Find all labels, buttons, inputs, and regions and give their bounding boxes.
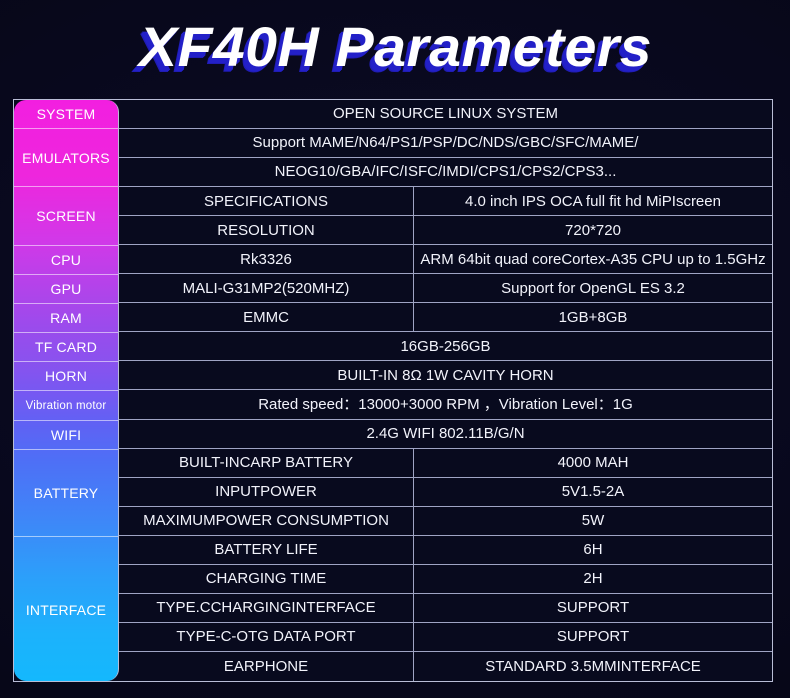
table-row: 16GB-256GB [119, 332, 772, 361]
table-row: EMMC1GB+8GB [119, 303, 772, 332]
spec-full-cell: BUILT-IN 8Ω 1W CAVITY HORN [119, 361, 772, 389]
category-cpu: CPU [14, 246, 118, 275]
page-title-banner: XF40H Parameters [0, 0, 790, 92]
spec-name-cell: EMMC [119, 303, 414, 331]
category-gpu: GPU [14, 275, 118, 304]
spec-name-cell: BUILT-INCARP BATTERY [119, 449, 414, 477]
spec-value-cell: ARM 64bit quad coreCortex-A35 CPU up to … [414, 245, 772, 273]
spec-name-cell: MAXIMUMPOWER CONSUMPTION [119, 507, 414, 535]
table-row: Support MAME/N64/PS1/PSP/DC/NDS/GBC/SFC/… [119, 129, 772, 158]
spec-value-cell: Support for OpenGL ES 3.2 [414, 274, 772, 302]
spec-full-cell: 16GB-256GB [119, 332, 772, 360]
table-row: SPECIFICATIONS4.0 inch IPS OCA full fit … [119, 187, 772, 216]
table-row: Rated speed：13000+3000 RPM ，Vibration Le… [119, 390, 772, 419]
table-row: Rk3326ARM 64bit quad coreCortex-A35 CPU … [119, 245, 772, 274]
table-row: TYPE-C-OTG DATA PORTSUPPORT [119, 623, 772, 652]
category-horn: HORN [14, 362, 118, 391]
spec-value-cell: 4.0 inch IPS OCA full fit hd MiPIscreen [414, 187, 772, 215]
spec-value-cell: 5V1.5-2A [414, 478, 772, 506]
spec-name-cell: SPECIFICATIONS [119, 187, 414, 215]
spec-name-cell: CHARGING TIME [119, 565, 414, 593]
spec-value-cell: 2H [414, 565, 772, 593]
category-rail: SYSTEMEMULATORSSCREENCPUGPURAMTF CARDHOR… [14, 100, 119, 681]
spec-name-cell: RESOLUTION [119, 216, 414, 244]
spec-value-cell: 5W [414, 507, 772, 535]
spec-full-cell: OPEN SOURCE LINUX SYSTEM [119, 100, 772, 128]
category-ram: RAM [14, 304, 118, 333]
table-row: OPEN SOURCE LINUX SYSTEM [119, 100, 772, 129]
page-title: XF40H Parameters [138, 14, 651, 79]
category-system: SYSTEM [14, 100, 118, 129]
table-row: MAXIMUMPOWER CONSUMPTION5W [119, 507, 772, 536]
spec-value-cell: 4000 MAH [414, 449, 772, 477]
table-row: INPUTPOWER5V1.5-2A [119, 478, 772, 507]
category-vibration-motor: Vibration motor [14, 391, 118, 420]
spec-full-cell: Rated speed：13000+3000 RPM ，Vibration Le… [119, 390, 772, 418]
table-row: BUILT-IN 8Ω 1W CAVITY HORN [119, 361, 772, 390]
category-wifi: WIFI [14, 421, 118, 450]
spec-full-cell: NEOG10/GBA/IFC/ISFC/IMDI/CPS1/CPS2/CPS3.… [119, 158, 772, 186]
category-emulators: EMULATORS [14, 129, 118, 187]
table-row: CHARGING TIME2H [119, 565, 772, 594]
spec-value-cell: 6H [414, 536, 772, 564]
spec-name-cell: TYPE.CCHARGINGINTERFACE [119, 594, 414, 622]
table-row: 2.4G WIFI 802.11B/G/N [119, 420, 772, 449]
table-row: MALI-G31MP2(520MHZ)Support for OpenGL ES… [119, 274, 772, 303]
category-screen: SCREEN [14, 187, 118, 245]
table-row: EARPHONESTANDARD 3.5MMINTERFACE [119, 652, 772, 681]
spec-value-cell: SUPPORT [414, 594, 772, 622]
spec-value-cell: 720*720 [414, 216, 772, 244]
spec-name-cell: Rk3326 [119, 245, 414, 273]
spec-value-cell: SUPPORT [414, 623, 772, 651]
category-battery: BATTERY [14, 450, 118, 537]
spec-full-cell: Support MAME/N64/PS1/PSP/DC/NDS/GBC/SFC/… [119, 129, 772, 157]
spec-name-cell: TYPE-C-OTG DATA PORT [119, 623, 414, 651]
spec-full-cell: 2.4G WIFI 802.11B/G/N [119, 420, 772, 448]
category-tf-card: TF CARD [14, 333, 118, 362]
table-row: BUILT-INCARP BATTERY4000 MAH [119, 449, 772, 478]
spec-name-cell: INPUTPOWER [119, 478, 414, 506]
table-row: BATTERY LIFE6H [119, 536, 772, 565]
parameters-table: SYSTEMEMULATORSSCREENCPUGPURAMTF CARDHOR… [13, 99, 773, 682]
spec-name-cell: MALI-G31MP2(520MHZ) [119, 274, 414, 302]
spec-name-cell: EARPHONE [119, 652, 414, 681]
category-interface: INTERFACE [14, 537, 118, 681]
table-row: TYPE.CCHARGINGINTERFACESUPPORT [119, 594, 772, 623]
spec-value-cell: 1GB+8GB [414, 303, 772, 331]
table-row: NEOG10/GBA/IFC/ISFC/IMDI/CPS1/CPS2/CPS3.… [119, 158, 772, 187]
spec-name-cell: BATTERY LIFE [119, 536, 414, 564]
parameters-grid: OPEN SOURCE LINUX SYSTEMSupport MAME/N64… [119, 100, 772, 681]
table-row: RESOLUTION720*720 [119, 216, 772, 245]
spec-value-cell: STANDARD 3.5MMINTERFACE [414, 652, 772, 681]
